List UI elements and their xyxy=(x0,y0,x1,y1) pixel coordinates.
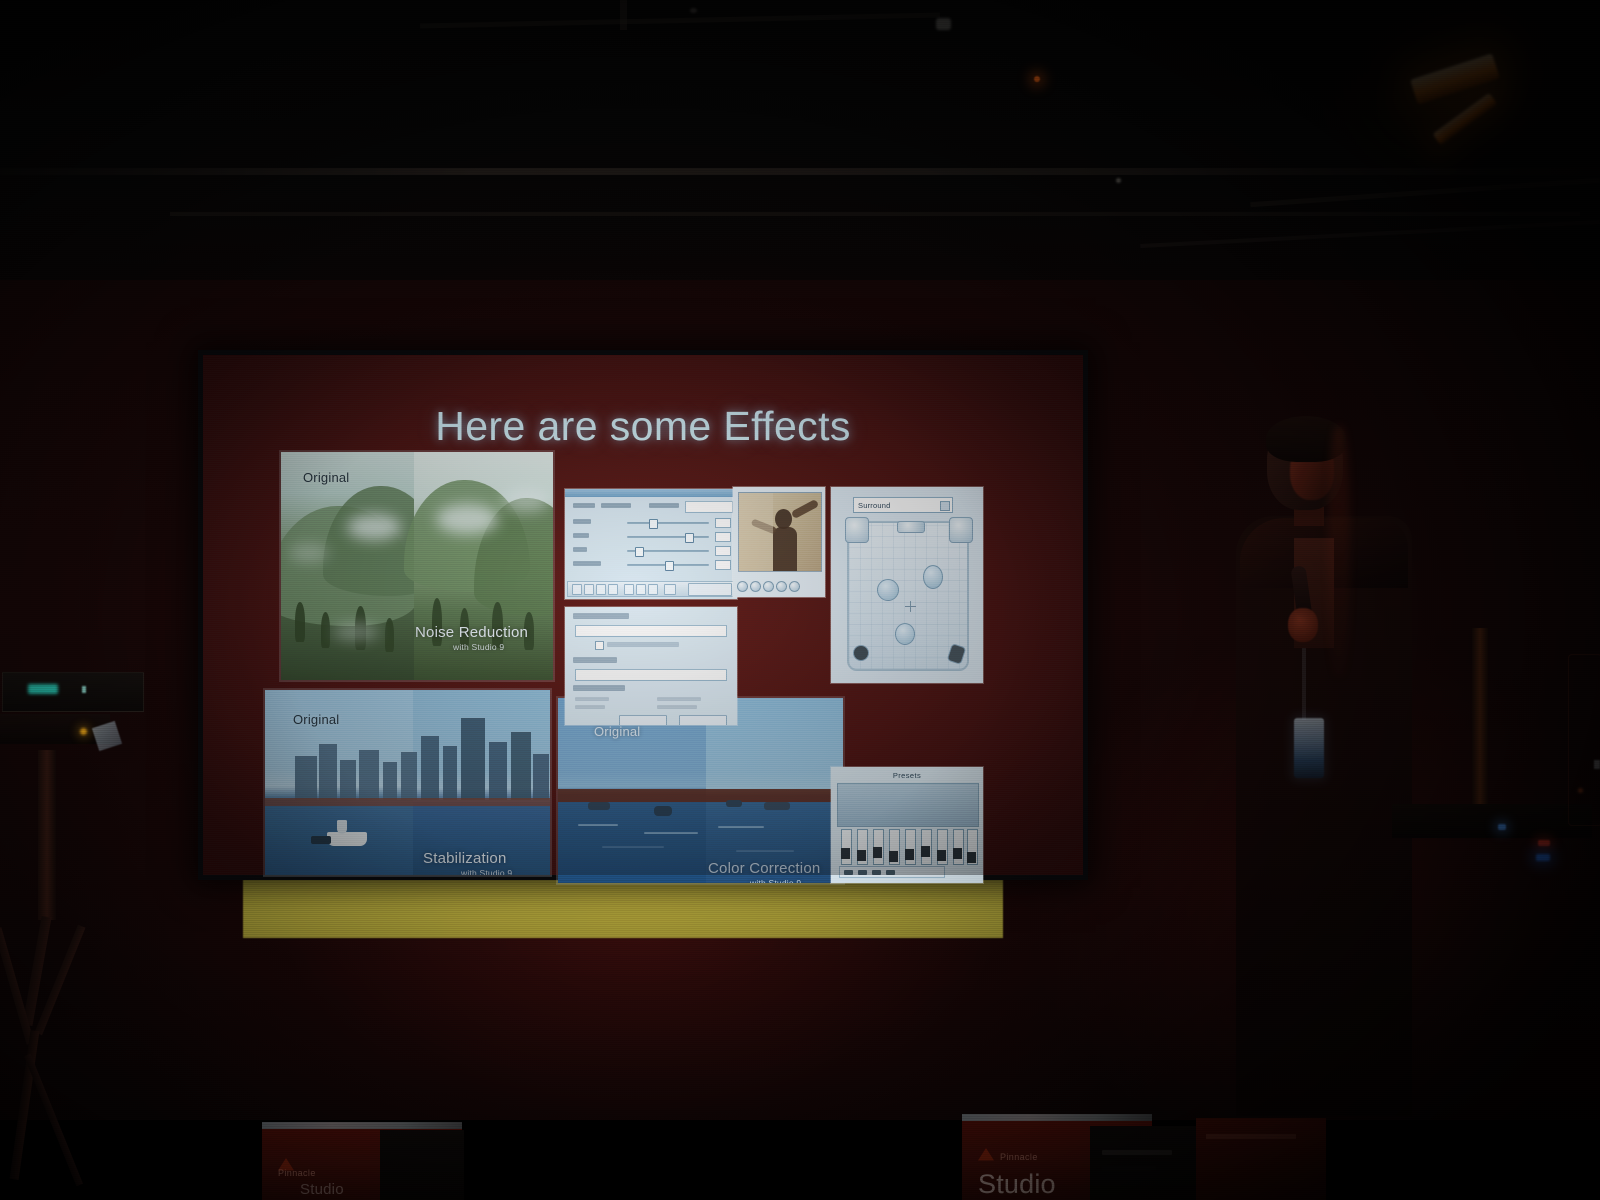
speaker-subwoofer[interactable] xyxy=(895,623,915,645)
caption-original: Original xyxy=(594,724,640,739)
eq-fader[interactable] xyxy=(937,829,948,865)
shoreline xyxy=(558,789,843,802)
caption-color-correction-sub: with Studio 9 xyxy=(750,878,801,883)
eq-display xyxy=(837,783,979,827)
panel-noise-reduction: Original Noise Reduction with Studio 9 xyxy=(281,452,553,680)
speaker-rear-left[interactable] xyxy=(853,645,869,661)
camera-file-field[interactable] xyxy=(575,669,727,681)
projection-screen: Here are some Effects xyxy=(198,350,1088,880)
timecode-segment xyxy=(872,870,881,875)
ceiling-truss xyxy=(420,13,940,29)
loop-button[interactable] xyxy=(624,584,634,595)
clip-name-field[interactable] xyxy=(575,625,727,637)
speaker-center[interactable] xyxy=(897,521,925,533)
column-header-presets xyxy=(649,503,679,508)
checkbox-label xyxy=(607,642,679,647)
checkbox-use-camera-audio[interactable] xyxy=(595,641,604,650)
play-button[interactable] xyxy=(572,584,582,595)
value-field-color[interactable] xyxy=(715,532,731,542)
surround-mode-value: Surround xyxy=(854,501,890,510)
caption-noise-reduction: Noise Reduction xyxy=(415,624,528,641)
panel-stabilization: Original Stabilization with Studio 9 xyxy=(265,690,550,875)
column-header-filetype xyxy=(601,503,631,508)
param-label-color xyxy=(573,533,589,538)
clip-properties-dialog[interactable] xyxy=(565,607,737,725)
timecode-display xyxy=(839,866,945,878)
av-deck xyxy=(2,672,144,712)
slider-track-color[interactable] xyxy=(627,536,709,538)
presenter-hand xyxy=(1288,608,1318,642)
rewind-icon[interactable] xyxy=(776,581,787,592)
speaker-front-left[interactable] xyxy=(845,517,869,543)
param-label-tint xyxy=(573,547,587,552)
caption-stabilization: Stabilization xyxy=(423,850,506,867)
caption-stabilization-sub: with Studio 9 xyxy=(461,868,512,875)
equipment-stand-post xyxy=(38,750,56,920)
equipment-led-white xyxy=(1594,760,1600,769)
preview-transport-bar[interactable] xyxy=(737,579,821,594)
ceiling-indicator-light xyxy=(1116,178,1121,183)
timecode-segment xyxy=(858,870,867,875)
av-rack-deck xyxy=(1392,804,1592,838)
lanyard xyxy=(1302,648,1306,720)
equipment-led-blue xyxy=(1498,824,1506,830)
ceiling-truss xyxy=(1250,178,1599,207)
chevron-down-icon[interactable] xyxy=(940,501,950,511)
ceiling-indicator-light xyxy=(1034,76,1040,82)
presets-label: Presets xyxy=(831,771,983,780)
detail-value xyxy=(657,705,697,709)
box-shadow-panel xyxy=(1090,1126,1196,1200)
box-shadow-panel xyxy=(380,1130,464,1200)
product-display-row: Pinnacle Studio Pinnacle Studio xyxy=(0,1104,1600,1200)
prev-frame-button[interactable] xyxy=(596,584,606,595)
equalizer-window[interactable]: Presets xyxy=(831,767,983,883)
video-preview-window[interactable] xyxy=(733,487,825,597)
ceiling-fixture xyxy=(690,8,697,13)
eq-fader[interactable] xyxy=(873,829,884,865)
timecode-segment xyxy=(886,870,895,875)
surround-mode-dropdown[interactable]: Surround xyxy=(853,497,953,513)
fast-forward-icon[interactable] xyxy=(789,581,800,592)
cancel-button[interactable] xyxy=(679,715,727,725)
stop-icon[interactable] xyxy=(763,581,774,592)
ceiling-light-icon xyxy=(1433,93,1498,145)
caption-color-correction: Color Correction xyxy=(708,860,820,877)
box-top-edge xyxy=(262,1122,462,1129)
effect-parameter-dialog[interactable] xyxy=(565,489,737,599)
play-icon[interactable] xyxy=(737,581,748,592)
speaker-front-right[interactable] xyxy=(949,517,973,543)
product-brand: Pinnacle xyxy=(1000,1152,1038,1162)
value-field-threshold[interactable] xyxy=(715,560,731,570)
ceiling xyxy=(0,0,1600,300)
camera-icon[interactable] xyxy=(664,584,676,595)
eq-fader[interactable] xyxy=(857,829,868,865)
detail-key xyxy=(575,697,609,701)
mark-in-button[interactable] xyxy=(636,584,646,595)
eq-fader[interactable] xyxy=(967,829,978,865)
slider-track-gain[interactable] xyxy=(627,522,709,524)
value-field-gain[interactable] xyxy=(715,518,731,528)
slider-knob-tint[interactable] xyxy=(635,547,644,557)
eq-fader[interactable] xyxy=(841,829,852,865)
pinnacle-logo-icon xyxy=(978,1148,994,1164)
av-equipment-left xyxy=(0,672,152,1002)
param-label-threshold xyxy=(573,561,601,566)
eq-fader[interactable] xyxy=(953,829,964,865)
page-title: Here are some Effects xyxy=(203,403,1083,450)
section-label-camera-details xyxy=(573,685,625,691)
ok-button[interactable] xyxy=(619,715,667,725)
slider-knob-color[interactable] xyxy=(685,533,694,543)
equipment-led-blue xyxy=(1536,854,1550,861)
eq-fader[interactable] xyxy=(921,829,932,865)
panel-color-correction: Original Color Correction with Studio 9 xyxy=(558,698,843,883)
image-original-mountain xyxy=(281,452,414,680)
timecode-segment xyxy=(844,870,853,875)
equipment-led-amber xyxy=(1578,788,1583,793)
next-frame-button[interactable] xyxy=(608,584,618,595)
equipment-led xyxy=(82,686,86,693)
photo-scene: Here are some Effects xyxy=(0,0,1600,1200)
caption-noise-reduction-sub: with Studio 9 xyxy=(453,642,504,652)
column-header-name xyxy=(573,503,595,508)
ceiling-truss xyxy=(0,168,1600,175)
eq-fader[interactable] xyxy=(889,829,900,865)
listening-position-crosshair[interactable] xyxy=(905,601,916,612)
caption-original: Original xyxy=(293,712,339,727)
dialog-button-bar xyxy=(567,581,737,597)
equipment-pole xyxy=(1472,628,1488,808)
surround-panner-window[interactable]: Surround xyxy=(831,487,983,683)
slider-knob-gain[interactable] xyxy=(649,519,658,529)
pause-icon[interactable] xyxy=(750,581,761,592)
pan-handle-left[interactable] xyxy=(877,579,899,601)
equipment-led-amber xyxy=(80,728,87,735)
stop-button[interactable] xyxy=(584,584,594,595)
caption-original: Original xyxy=(303,470,349,485)
apply-button[interactable] xyxy=(688,583,732,596)
product-box xyxy=(1196,1118,1326,1200)
section-label-camera-file xyxy=(573,657,617,663)
slider-knob-threshold[interactable] xyxy=(665,561,674,571)
product-brand: Pinnacle xyxy=(278,1168,316,1178)
surround-room-grid[interactable] xyxy=(847,521,969,671)
product-name: Studio xyxy=(978,1169,1056,1200)
section-label-input-clip xyxy=(573,613,629,619)
preset-select[interactable] xyxy=(685,501,733,513)
presentation-slide: Here are some Effects xyxy=(203,355,1083,875)
product-name: Studio xyxy=(300,1181,344,1198)
dialog-titlebar xyxy=(565,489,737,497)
speaker-rear-right[interactable] xyxy=(947,643,967,665)
mark-out-button[interactable] xyxy=(648,584,658,595)
ceiling-fixture xyxy=(936,18,951,30)
ceiling-truss xyxy=(1140,220,1600,248)
ceiling-truss xyxy=(170,212,1580,216)
param-label-gain xyxy=(573,519,591,524)
eq-fader[interactable] xyxy=(905,829,916,865)
conference-badge xyxy=(1294,718,1324,778)
preview-image xyxy=(738,492,822,572)
value-field-tint[interactable] xyxy=(715,546,731,556)
av-equipment-right xyxy=(1372,628,1600,928)
equipment-display xyxy=(28,684,58,694)
rim-light xyxy=(1328,426,1350,676)
av-rack-panel xyxy=(1568,654,1600,826)
detail-value xyxy=(657,697,701,701)
ceiling-truss xyxy=(620,0,627,30)
detail-key xyxy=(575,705,605,709)
box-top-edge xyxy=(962,1114,1152,1121)
equipment-led-red xyxy=(1538,840,1550,846)
pan-handle-right[interactable] xyxy=(923,565,943,589)
